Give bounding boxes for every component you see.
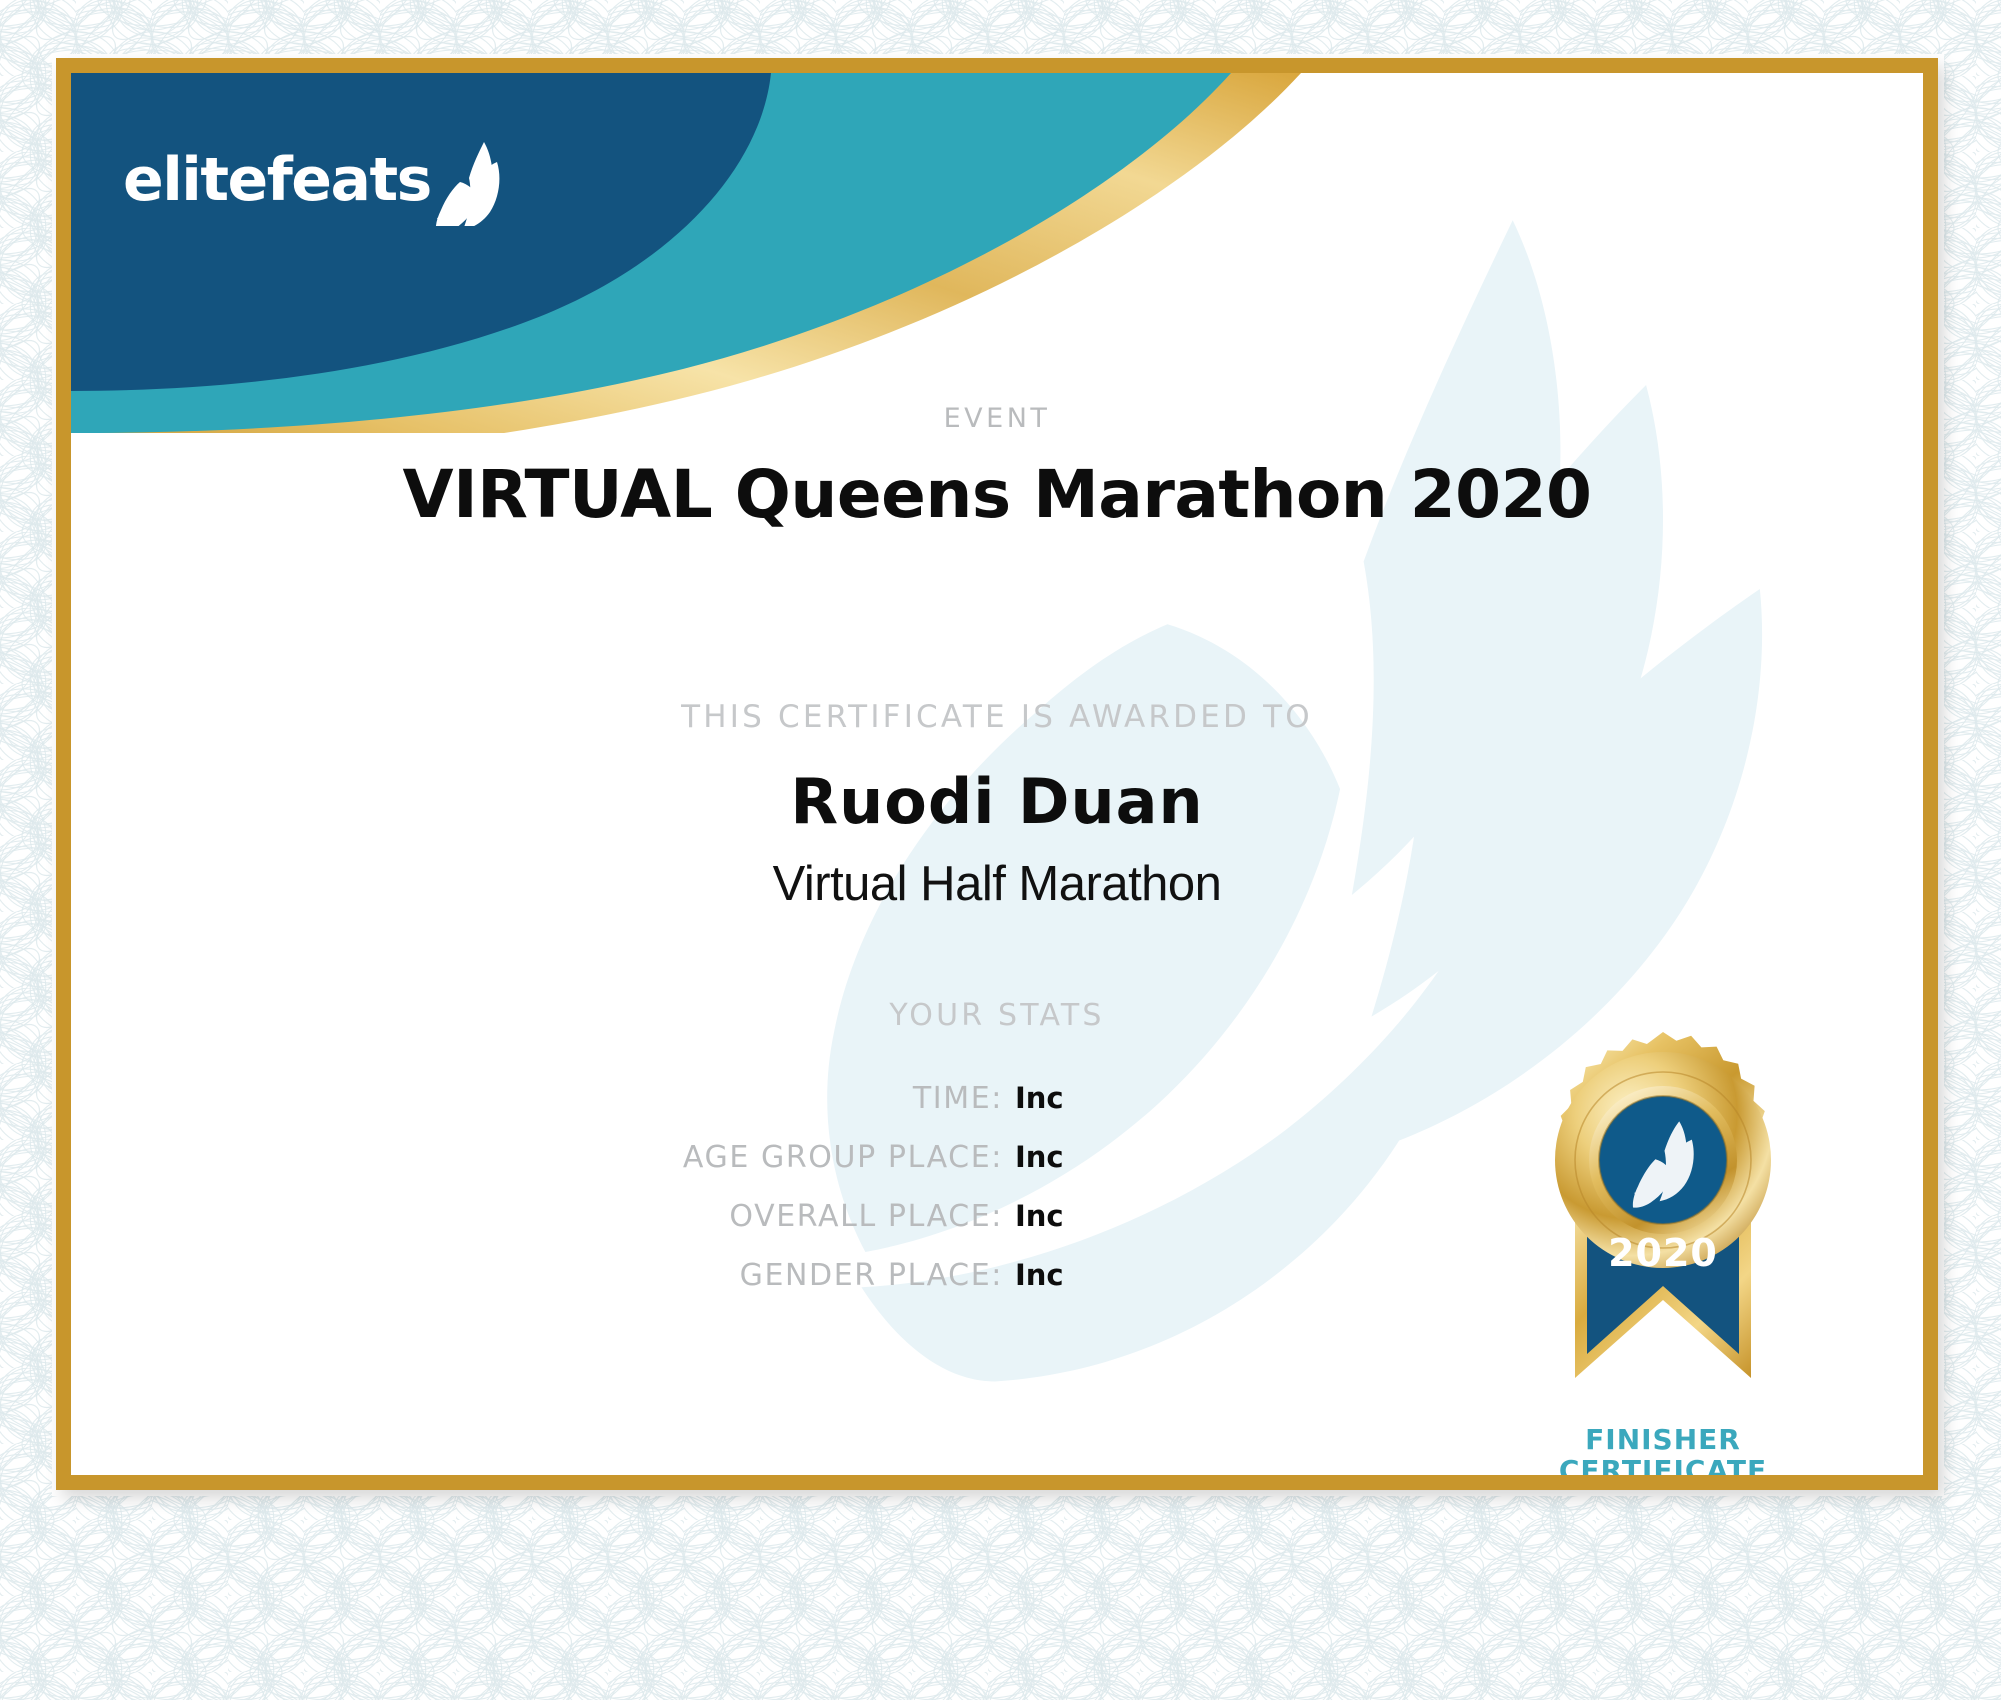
stat-value-time: Inc <box>1015 1081 1071 1115</box>
header-banner-graphic <box>71 73 1923 433</box>
seal-caption-line1: FINISHER <box>1513 1424 1813 1455</box>
winged-shoe-icon <box>435 140 511 226</box>
stat-label-gender-place: GENDER PLACE: <box>740 1258 1003 1293</box>
stat-value-gender-place: Inc <box>1015 1258 1071 1292</box>
event-title: VIRTUAL Queens Marathon 2020 <box>71 460 1923 529</box>
brand-logo: elitefeats <box>123 135 511 225</box>
brand-wordmark: elitefeats <box>123 150 431 210</box>
certificate-body: elitefeats EVENT VIRTUAL Queens Marathon… <box>71 73 1923 1475</box>
recipient-name: Ruodi Duan <box>71 765 1923 838</box>
division-name: Virtual Half Marathon <box>71 856 1923 912</box>
stat-label-age-group-place: AGE GROUP PLACE: <box>683 1140 1003 1175</box>
stat-value-overall-place: Inc <box>1015 1199 1071 1233</box>
stat-label-overall-place: OVERALL PLACE: <box>729 1199 1003 1234</box>
certificate-gold-frame: elitefeats EVENT VIRTUAL Queens Marathon… <box>56 58 1938 1490</box>
seal-caption-line2: CERTIFICATE <box>1513 1455 1813 1475</box>
event-label: EVENT <box>71 403 1923 434</box>
finisher-seal: 2020 FINISHER CERTIFICATE <box>1513 1028 1813 1475</box>
seal-year: 2020 <box>1608 1231 1718 1275</box>
seal-caption: FINISHER CERTIFICATE <box>1513 1424 1813 1475</box>
stat-value-age-group-place: Inc <box>1015 1140 1071 1174</box>
awarded-to-label: THIS CERTIFICATE IS AWARDED TO <box>71 699 1923 735</box>
gold-medal-seal-icon: 2020 <box>1513 1028 1813 1418</box>
certificate-page: elitefeats EVENT VIRTUAL Queens Marathon… <box>0 0 2001 1700</box>
stat-label-time: TIME: <box>913 1081 1003 1116</box>
